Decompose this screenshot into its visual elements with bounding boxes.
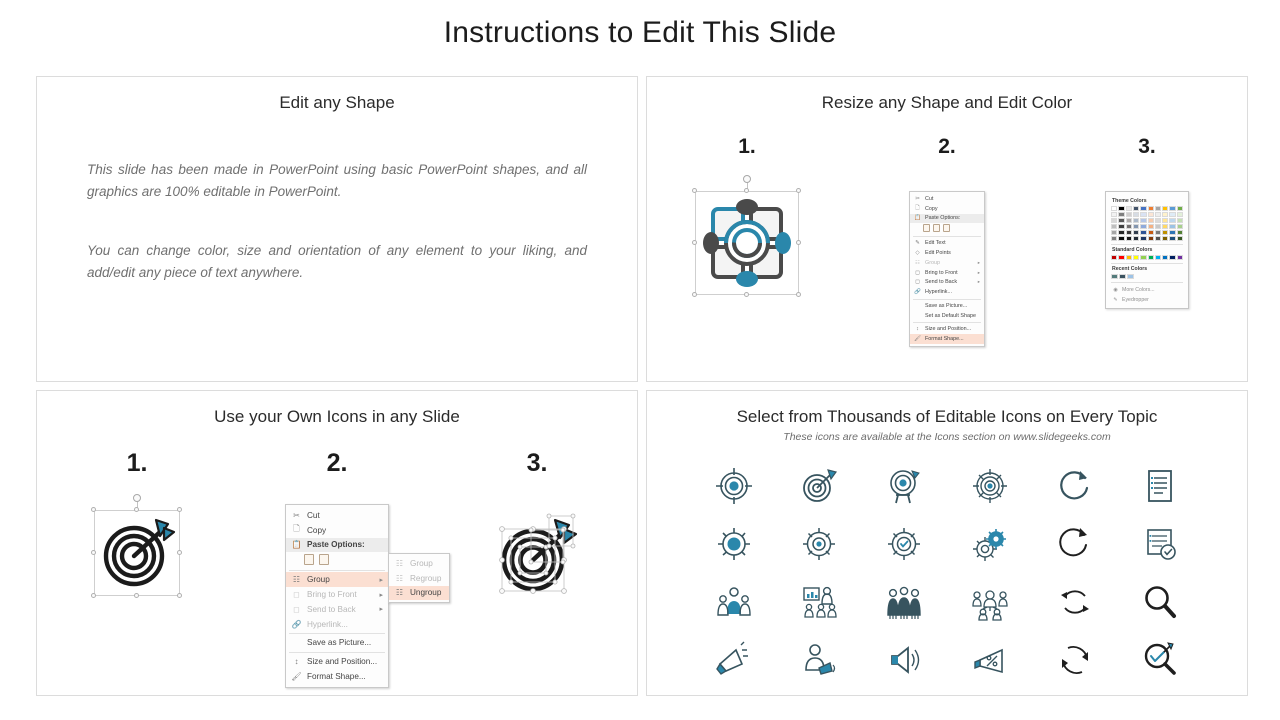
- icon-cell[interactable]: [776, 521, 861, 567]
- resize-handle-nw[interactable]: [91, 507, 96, 512]
- resize-step-2-art: ✂ Cut 🗋 Copy 📋 Paste Options:: [847, 181, 1047, 347]
- edit-shape-paragraph-1: This slide has been made in PowerPoint u…: [87, 159, 587, 204]
- resize-handle-e[interactable]: [796, 240, 801, 245]
- regroup-icon: ☷: [393, 573, 406, 583]
- color-swatch[interactable]: [1126, 255, 1132, 260]
- sync-arrows-icon[interactable]: [1055, 582, 1095, 622]
- document-check-icon[interactable]: [1140, 524, 1180, 564]
- panel-edit-shape-title: Edit any Shape: [37, 93, 637, 113]
- ctx-item-size-and-position[interactable]: ↕ Size and Position...: [910, 325, 984, 335]
- color-swatch[interactable]: [1177, 212, 1183, 217]
- panel-edit-shape: Edit any Shape This slide has been made …: [36, 76, 638, 382]
- color-swatch[interactable]: [1127, 274, 1134, 279]
- color-swatch[interactable]: [1118, 224, 1124, 229]
- standard-colors-row[interactable]: [1111, 255, 1183, 260]
- panel-own-icons-title: Use your Own Icons in any Slide: [37, 407, 637, 427]
- panel-resize-shape: Resize any Shape and Edit Color 1. 2. 3.: [646, 76, 1248, 382]
- rotation-handle[interactable]: [133, 494, 141, 502]
- size-position-icon: ↕: [290, 657, 303, 667]
- ctx-item-label: Format Shape...: [307, 672, 366, 681]
- color-swatch[interactable]: [1111, 230, 1117, 235]
- icon-cell[interactable]: [1118, 637, 1203, 683]
- own-icons-step-2-number: 2.: [237, 449, 437, 478]
- ctx-item-label: Send to Back: [307, 605, 356, 614]
- color-swatch[interactable]: [1162, 236, 1168, 241]
- color-swatch[interactable]: [1133, 255, 1139, 260]
- picker-divider: [1111, 244, 1183, 245]
- target-dart-ungrouped-icon[interactable]: [491, 510, 583, 602]
- ctx-item-label: Send to Back: [925, 279, 957, 285]
- color-swatch[interactable]: [1177, 230, 1183, 235]
- ctx-item-label: Group: [307, 575, 330, 584]
- submenu-item-ungroup[interactable]: ☷ Ungroup: [389, 586, 449, 601]
- megaphone-icon[interactable]: [714, 640, 754, 680]
- panel-own-icons: Use your Own Icons in any Slide 1. 2. 3.: [36, 390, 638, 696]
- color-swatch[interactable]: [1169, 218, 1175, 223]
- resize-handle-ne[interactable]: [177, 507, 182, 512]
- color-swatch[interactable]: [1155, 218, 1161, 223]
- color-swatch[interactable]: [1111, 224, 1117, 229]
- ctx-item-label: Group: [925, 260, 940, 266]
- menu-divider: [289, 570, 385, 571]
- ctx-item-bring-to-front[interactable]: ◻ Bring to Front ▸: [910, 268, 984, 278]
- resize-handle-ne[interactable]: [796, 188, 801, 193]
- ctx-item-group: ☷ Group ▸: [910, 258, 984, 268]
- ctx-item-send-to-back: ◻ Send to Back ▸: [286, 602, 388, 617]
- ctx-item-label: Paste Options:: [307, 540, 365, 549]
- color-swatch[interactable]: [1111, 206, 1117, 211]
- bring-front-icon: ◻: [913, 269, 922, 276]
- rotation-handle[interactable]: [743, 175, 751, 183]
- menu-divider: [289, 652, 385, 653]
- panel-icon-gallery: Select from Thousands of Editable Icons …: [646, 390, 1248, 696]
- resize-steps: 1. 2. 3.: [647, 135, 1247, 159]
- resize-step-3-number: 3.: [1047, 135, 1247, 159]
- submenu-item-label: Group: [410, 559, 433, 568]
- ctx-item-paste-options: 📋 Paste Options:: [910, 214, 984, 224]
- group-icon: ☷: [393, 558, 406, 568]
- color-swatch[interactable]: [1118, 206, 1124, 211]
- menu-divider: [289, 633, 385, 634]
- submenu-item-regroup: ☷ Regroup: [389, 571, 449, 586]
- color-swatch[interactable]: [1126, 206, 1132, 211]
- color-swatch[interactable]: [1148, 224, 1154, 229]
- submenu-item-group: ☷ Group: [389, 556, 449, 571]
- icon-cell[interactable]: [776, 579, 861, 625]
- target-dart-icon[interactable]: [799, 466, 839, 506]
- own-icons-art-row: ✂ Cut 🗋 Copy 📋 Paste Options:: [37, 500, 637, 688]
- group-icon: ☷: [290, 575, 303, 585]
- resize-handle-w[interactable]: [692, 240, 697, 245]
- team-network-icon[interactable]: [970, 582, 1010, 622]
- ctx-item-label: Edit Text: [925, 240, 946, 246]
- color-swatch[interactable]: [1133, 212, 1139, 217]
- color-swatch[interactable]: [1118, 255, 1124, 260]
- resize-handle-sw[interactable]: [692, 292, 697, 297]
- more-colors-button[interactable]: ◉ More Colors...: [1111, 285, 1183, 295]
- color-swatch[interactable]: [1118, 236, 1124, 241]
- megaphone-percent-icon[interactable]: [970, 640, 1010, 680]
- magnifier-icon[interactable]: [1140, 582, 1180, 622]
- ctx-item-label: Cut: [307, 511, 320, 520]
- color-swatch[interactable]: [1177, 206, 1183, 211]
- hyperlink-icon: 🔗: [290, 619, 303, 629]
- color-swatch[interactable]: [1148, 236, 1154, 241]
- paste-keep-formatting-icon[interactable]: [923, 224, 930, 232]
- edit-points-icon: ◇: [913, 250, 922, 257]
- shape-selection-wrapper[interactable]: [695, 191, 799, 295]
- color-swatch[interactable]: [1111, 218, 1117, 223]
- own-icons-step-1-number: 1.: [37, 449, 237, 478]
- color-swatch[interactable]: [1140, 236, 1146, 241]
- color-swatch[interactable]: [1111, 274, 1118, 279]
- color-swatch[interactable]: [1140, 218, 1146, 223]
- recent-colors-label: Recent Colors: [1112, 266, 1183, 272]
- color-swatch[interactable]: [1162, 206, 1168, 211]
- color-swatch[interactable]: [1169, 212, 1175, 217]
- ctx-item-set-default-shape[interactable]: Set as Default Shape: [910, 311, 984, 321]
- paste-options-row: [286, 552, 388, 568]
- chevron-right-icon: ▸: [978, 260, 980, 266]
- panel-resize-shape-title: Resize any Shape and Edit Color: [647, 93, 1247, 113]
- icon-cell[interactable]: [862, 637, 947, 683]
- crosshair-target-icon[interactable]: [714, 466, 754, 506]
- color-swatch[interactable]: [1162, 230, 1168, 235]
- color-swatch[interactable]: [1169, 206, 1175, 211]
- color-swatch[interactable]: [1155, 236, 1161, 241]
- icon-cell[interactable]: [862, 463, 947, 509]
- paste-keep-formatting-icon[interactable]: [304, 554, 314, 565]
- rotation-arrows-icon[interactable]: [1055, 640, 1095, 680]
- ctx-item-label: Cut: [925, 196, 933, 202]
- format-shape-icon: 🖌: [290, 671, 303, 681]
- target-stand-icon[interactable]: [884, 466, 924, 506]
- gear-dot-icon[interactable]: [799, 524, 839, 564]
- slide-root: Instructions to Edit This Slide Edit any…: [0, 0, 1280, 720]
- own-icons-steps: 1. 2. 3.: [37, 449, 637, 478]
- chevron-right-icon: ▸: [379, 591, 383, 599]
- color-swatch[interactable]: [1126, 224, 1132, 229]
- color-swatch[interactable]: [1119, 274, 1126, 279]
- ctx-item-label: Bring to Front: [307, 590, 357, 599]
- team-group-icon[interactable]: [884, 582, 924, 622]
- color-swatch[interactable]: [1148, 212, 1154, 217]
- group-context-menu[interactable]: ✂ Cut 🗋 Copy 📋 Paste Options:: [285, 504, 389, 688]
- resize-handle-w[interactable]: [91, 550, 96, 555]
- icon-cell[interactable]: [1032, 637, 1117, 683]
- scissors-icon: ✂: [290, 510, 303, 520]
- own-icons-step-2-art: ✂ Cut 🗋 Copy 📋 Paste Options:: [237, 500, 437, 688]
- icon-cell[interactable]: [776, 637, 861, 683]
- speaker-icon[interactable]: [884, 640, 924, 680]
- color-swatch[interactable]: [1133, 236, 1139, 241]
- icon-cell[interactable]: [947, 579, 1032, 625]
- clipboard-icon: 📋: [290, 540, 303, 550]
- ctx-item-cut[interactable]: ✂ Cut: [910, 194, 984, 204]
- color-swatch[interactable]: [1162, 224, 1168, 229]
- clipboard-icon: 📋: [913, 215, 922, 222]
- scissors-icon: ✂: [913, 195, 922, 202]
- eyedropper-icon: ✎: [1112, 297, 1119, 304]
- menu-divider: [913, 322, 981, 323]
- ctx-item-label: Hyperlink...: [307, 620, 348, 629]
- ctx-item-label: Copy: [925, 206, 938, 212]
- group-icon: ☷: [913, 259, 922, 266]
- edit-text-icon: ✎: [913, 240, 922, 247]
- circular-arrow-icon[interactable]: [1055, 524, 1095, 564]
- icon-cell[interactable]: [947, 637, 1032, 683]
- color-swatch[interactable]: [1148, 230, 1154, 235]
- ctx-item-label: Size and Position...: [925, 326, 971, 332]
- paste-options-row: [910, 223, 984, 234]
- icon-gallery-grid: [691, 463, 1203, 683]
- icon-cell[interactable]: [1032, 521, 1117, 567]
- icon-cell[interactable]: [691, 463, 776, 509]
- ctx-item-save-as-picture[interactable]: Save as Picture...: [286, 635, 388, 650]
- ctx-item-cut[interactable]: ✂ Cut: [286, 508, 388, 523]
- icon-cell[interactable]: [1118, 579, 1203, 625]
- selected-quadrant-target-icon[interactable]: [695, 191, 799, 295]
- color-swatch[interactable]: [1155, 212, 1161, 217]
- own-icons-step-3-number: 3.: [437, 449, 637, 478]
- color-swatch[interactable]: [1162, 212, 1168, 217]
- shape-context-menu[interactable]: ✂ Cut 🗋 Copy 📋 Paste Options:: [909, 191, 985, 347]
- panel-grid: Edit any Shape This slide has been made …: [36, 76, 1248, 696]
- theme-colors-base-row[interactable]: [1111, 206, 1183, 211]
- chevron-right-icon: ▸: [978, 279, 980, 285]
- ctx-item-copy[interactable]: 🗋 Copy: [286, 523, 388, 538]
- submenu-item-label: Regroup: [410, 574, 441, 583]
- resize-step-1-art: [647, 181, 847, 347]
- own-icons-step-3-art: [437, 500, 637, 688]
- blank-icon: [913, 302, 922, 309]
- paste-picture-icon[interactable]: [933, 224, 940, 232]
- color-swatch[interactable]: [1133, 218, 1139, 223]
- eyedropper-button[interactable]: ✎ Eyedropper: [1111, 295, 1183, 305]
- panel-icon-gallery-title: Select from Thousands of Editable Icons …: [647, 407, 1247, 427]
- blank-icon: [290, 638, 303, 648]
- icon-cell[interactable]: [947, 463, 1032, 509]
- page-title: Instructions to Edit This Slide: [0, 0, 1280, 50]
- ctx-item-hyperlink[interactable]: 🔗 Hyperlink...: [910, 287, 984, 297]
- checklist-document-icon[interactable]: [1140, 466, 1180, 506]
- icon-cell[interactable]: [1118, 521, 1203, 567]
- ctx-item-label: Copy: [307, 526, 326, 535]
- color-swatch[interactable]: [1169, 255, 1175, 260]
- person-megaphone-icon[interactable]: [799, 640, 839, 680]
- resize-step-3-art: Theme Colors Standard Colors Recent Colo…: [1047, 181, 1247, 347]
- ctx-item-copy[interactable]: 🗋 Copy: [910, 204, 984, 214]
- ctx-item-edit-text[interactable]: ✎ Edit Text: [910, 238, 984, 248]
- ctx-item-send-to-back[interactable]: ◻ Send to Back ▸: [910, 277, 984, 287]
- color-swatch[interactable]: [1155, 230, 1161, 235]
- color-swatch[interactable]: [1133, 224, 1139, 229]
- color-swatch[interactable]: [1111, 255, 1117, 260]
- color-swatch[interactable]: [1118, 218, 1124, 223]
- color-swatch[interactable]: [1126, 230, 1132, 235]
- own-icons-step-1-art: [37, 500, 237, 688]
- recent-colors-row[interactable]: [1111, 274, 1183, 279]
- ctx-item-label: Hyperlink...: [925, 289, 952, 295]
- color-swatch[interactable]: [1148, 218, 1154, 223]
- color-swatch[interactable]: [1155, 255, 1161, 260]
- radar-target-icon[interactable]: [970, 466, 1010, 506]
- target-dart-selected-icon[interactable]: [94, 510, 180, 596]
- resize-handle-s[interactable]: [744, 292, 749, 297]
- resize-handle-s[interactable]: [134, 593, 139, 598]
- color-swatch[interactable]: [1118, 212, 1124, 217]
- menu-divider: [913, 299, 981, 300]
- submenu-item-label: Ungroup: [410, 588, 441, 597]
- theme-colors-tint-grid[interactable]: [1111, 212, 1183, 241]
- icon-cell[interactable]: [1032, 579, 1117, 625]
- color-swatch[interactable]: [1169, 236, 1175, 241]
- send-back-icon: ◻: [290, 604, 303, 614]
- color-swatch[interactable]: [1162, 255, 1168, 260]
- resize-step-1-number: 1.: [647, 135, 847, 159]
- ctx-item-label: Set as Default Shape: [925, 313, 976, 319]
- ungroup-icon: ☷: [393, 588, 406, 598]
- icon-cell[interactable]: [1118, 463, 1203, 509]
- resize-handle-n[interactable]: [134, 507, 139, 512]
- icon-cell[interactable]: [691, 579, 776, 625]
- ctx-item-label: Paste Options:: [925, 215, 960, 221]
- hyperlink-icon: 🔗: [913, 289, 922, 296]
- resize-handle-se[interactable]: [177, 593, 182, 598]
- color-swatch[interactable]: [1126, 218, 1132, 223]
- presentation-team-icon[interactable]: [799, 582, 839, 622]
- color-swatch[interactable]: [1111, 236, 1117, 241]
- chevron-right-icon: ▸: [978, 270, 980, 276]
- color-swatch[interactable]: [1118, 230, 1124, 235]
- resize-step-2-number: 2.: [847, 135, 1047, 159]
- grouped-icon-wrapper[interactable]: [94, 510, 180, 596]
- ctx-item-label: Size and Position...: [307, 657, 377, 666]
- paste-text-only-icon[interactable]: [943, 224, 950, 232]
- color-swatch[interactable]: [1177, 236, 1183, 241]
- color-swatch[interactable]: [1140, 255, 1146, 260]
- eyedropper-label: Eyedropper: [1122, 297, 1149, 303]
- color-swatch[interactable]: [1169, 230, 1175, 235]
- resize-handle-e[interactable]: [177, 550, 182, 555]
- color-swatch[interactable]: [1133, 206, 1139, 211]
- color-swatch[interactable]: [1126, 236, 1132, 241]
- resize-step-art-row: ✂ Cut 🗋 Copy 📋 Paste Options:: [647, 181, 1247, 347]
- icon-cell[interactable]: [691, 637, 776, 683]
- color-swatch[interactable]: [1140, 212, 1146, 217]
- send-back-icon: ◻: [913, 279, 922, 286]
- icon-cell[interactable]: [776, 463, 861, 509]
- color-picker-panel[interactable]: Theme Colors Standard Colors Recent Colo…: [1105, 191, 1189, 309]
- group-submenu[interactable]: ☷ Group ☷ Regroup ☷ Ungroup: [388, 553, 450, 603]
- ctx-item-hyperlink: 🔗 Hyperlink...: [286, 617, 388, 632]
- magnifier-target-icon[interactable]: [1140, 640, 1180, 680]
- resize-handle-nw[interactable]: [692, 188, 697, 193]
- standard-colors-label: Standard Colors: [1112, 247, 1183, 253]
- more-colors-label: More Colors...: [1122, 287, 1155, 293]
- ctx-item-group[interactable]: ☷ Group ▸: [286, 572, 388, 587]
- resize-handle-n[interactable]: [744, 188, 749, 193]
- color-swatch[interactable]: [1140, 206, 1146, 211]
- picker-divider: [1111, 282, 1183, 283]
- team-leader-icon[interactable]: [714, 582, 754, 622]
- gear-filled-icon[interactable]: [714, 524, 754, 564]
- icon-cell[interactable]: [862, 521, 947, 567]
- blank-icon: [913, 312, 922, 319]
- color-swatch[interactable]: [1155, 224, 1161, 229]
- color-swatch[interactable]: [1155, 206, 1161, 211]
- resize-handle-sw[interactable]: [91, 593, 96, 598]
- icon-cell[interactable]: [947, 521, 1032, 567]
- color-swatch[interactable]: [1111, 212, 1117, 217]
- copy-icon: 🗋: [290, 525, 303, 535]
- color-swatch[interactable]: [1140, 224, 1146, 229]
- gear-check-icon[interactable]: [884, 524, 924, 564]
- ctx-item-size-and-position[interactable]: ↕ Size and Position...: [286, 654, 388, 669]
- ctx-item-format-shape[interactable]: 🖌 Format Shape...: [286, 669, 388, 684]
- color-swatch[interactable]: [1126, 212, 1132, 217]
- edit-shape-paragraph-2: You can change color, size and orientati…: [87, 240, 587, 285]
- color-swatch[interactable]: [1177, 218, 1183, 223]
- icon-cell[interactable]: [691, 521, 776, 567]
- bring-front-icon: ◻: [290, 590, 303, 600]
- ctx-item-format-shape[interactable]: 🖌 Format Shape...: [910, 334, 984, 344]
- ctx-item-label: Bring to Front: [925, 270, 958, 276]
- ctx-item-label: Save as Picture...: [307, 638, 371, 647]
- format-shape-icon: 🖌: [913, 336, 922, 343]
- menu-divider: [913, 236, 981, 237]
- color-swatch[interactable]: [1162, 218, 1168, 223]
- copy-icon: 🗋: [913, 205, 922, 212]
- panel-icon-gallery-subtitle: These icons are available at the Icons s…: [647, 431, 1247, 443]
- chevron-right-icon: ▸: [379, 605, 383, 613]
- color-swatch[interactable]: [1133, 230, 1139, 235]
- double-gear-icon[interactable]: [970, 524, 1010, 564]
- paste-picture-icon[interactable]: [319, 554, 329, 565]
- palette-icon: ◉: [1112, 287, 1119, 294]
- ctx-item-edit-points[interactable]: ◇ Edit Points: [910, 248, 984, 258]
- ctx-item-label: Save as Picture...: [925, 303, 967, 309]
- resize-handle-se[interactable]: [796, 292, 801, 297]
- icon-cell[interactable]: [862, 579, 947, 625]
- theme-colors-label: Theme Colors: [1112, 198, 1183, 204]
- picker-divider: [1111, 263, 1183, 264]
- ctx-item-save-as-picture[interactable]: Save as Picture...: [910, 301, 984, 311]
- color-swatch[interactable]: [1148, 255, 1154, 260]
- ctx-item-label: Edit Points: [925, 250, 951, 256]
- color-swatch[interactable]: [1140, 230, 1146, 235]
- ctx-item-label: Format Shape...: [925, 336, 964, 342]
- ungrouped-icon-wrapper[interactable]: [491, 510, 583, 602]
- icon-cell[interactable]: [1032, 463, 1117, 509]
- refresh-arrow-icon[interactable]: [1055, 466, 1095, 506]
- ctx-item-paste-options: 📋 Paste Options:: [286, 538, 388, 553]
- ctx-item-bring-to-front: ◻ Bring to Front ▸: [286, 587, 388, 602]
- color-swatch[interactable]: [1169, 224, 1175, 229]
- color-swatch[interactable]: [1148, 206, 1154, 211]
- chevron-right-icon: ▸: [379, 576, 383, 584]
- color-swatch[interactable]: [1177, 224, 1183, 229]
- size-position-icon: ↕: [913, 326, 922, 333]
- color-swatch[interactable]: [1177, 255, 1183, 260]
